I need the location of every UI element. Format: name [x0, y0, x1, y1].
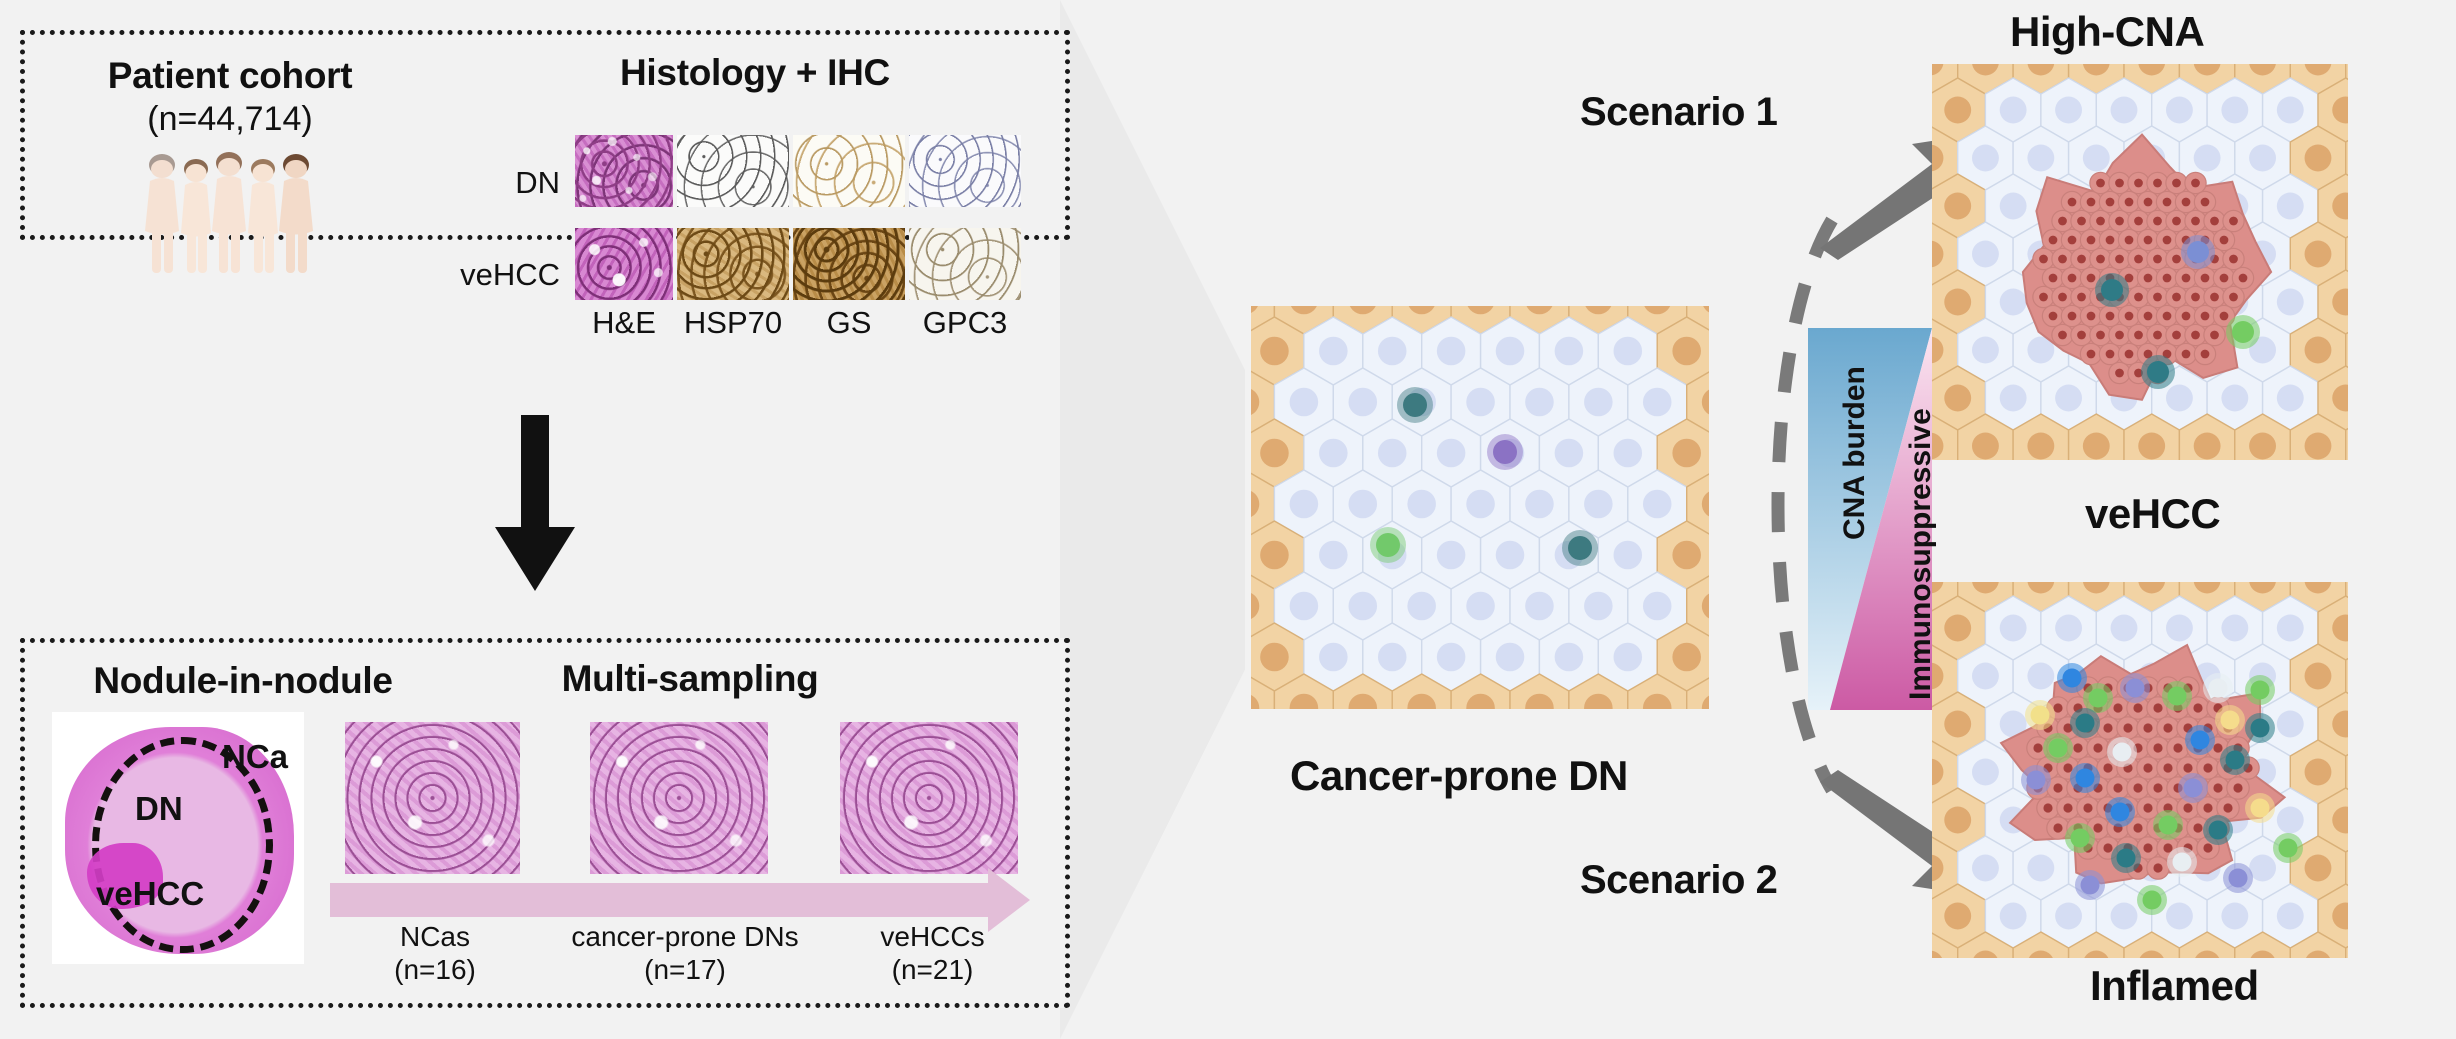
stain-label-hsp70: HSP70	[677, 305, 789, 341]
histology-tile-dn-gpc3	[909, 135, 1021, 207]
patient-cohort-title: Patient cohort	[70, 55, 390, 97]
scenario-2-label: Scenario 2	[1580, 858, 1777, 903]
histology-ihc-title: Histology + IHC	[580, 52, 930, 94]
histology-tile-vehcc-gpc3	[909, 228, 1021, 300]
histology-row-label-dn: DN	[440, 165, 560, 201]
histology-tile-dn-hsp70	[677, 135, 789, 207]
stain-label-he: H&E	[575, 305, 673, 341]
sample-tile-dns	[590, 722, 768, 874]
sample-label-vehccs: veHCCs (n=21)	[845, 920, 1020, 986]
patient-cohort-subtitle: (n=44,714)	[70, 100, 390, 139]
nodule-annotation-dn: DN	[135, 790, 183, 828]
sample-label-dns: cancer-prone DNs (n=17)	[560, 920, 810, 986]
sample-name-ncas: NCas	[355, 920, 515, 953]
sample-count-ncas: (n=16)	[355, 953, 515, 986]
figure-canvas: Patient cohort (n=44,714)	[0, 0, 2456, 1039]
nodule-annotation-vehcc: veHCC	[96, 875, 204, 913]
sample-tile-vehccs	[840, 722, 1018, 874]
down-arrow-icon	[490, 415, 580, 595]
high-cna-tissue-icon	[1930, 62, 2350, 462]
histology-tile-vehcc-hsp70	[677, 228, 789, 300]
inflamed-label: Inflamed	[2090, 962, 2259, 1010]
stain-label-gs: GS	[793, 305, 905, 341]
histology-tile-dn-gs	[793, 135, 905, 207]
scenario-1-label: Scenario 1	[1580, 90, 1777, 135]
nodule-in-nodule-title: Nodule-in-nodule	[48, 660, 438, 702]
vehcc-outcome-label: veHCC	[2085, 490, 2220, 538]
histology-row-label-vehcc: veHCC	[410, 257, 560, 293]
histology-tile-vehcc-he	[575, 228, 673, 300]
sample-tile-ncas	[345, 722, 520, 874]
cancer-prone-dn-label: Cancer-prone DN	[1290, 752, 1628, 800]
sample-name-vehccs: veHCCs	[845, 920, 1020, 953]
nodule-annotation-nca: NCa	[222, 738, 288, 776]
histology-tile-vehcc-gs	[793, 228, 905, 300]
sample-name-dns: cancer-prone DNs	[560, 920, 810, 953]
stain-label-gpc3: GPC3	[909, 305, 1021, 341]
histology-tile-dn-he	[575, 135, 673, 207]
sample-label-ncas: NCas (n=16)	[355, 920, 515, 986]
multi-sampling-title: Multi-sampling	[500, 658, 880, 700]
tissue-hexagon-icon-source	[1245, 300, 1715, 740]
branch-connector-lines	[1720, 190, 1870, 840]
patient-group-icon	[140, 145, 330, 275]
high-cna-label: High-CNA	[2010, 8, 2204, 56]
progression-arrow-icon	[330, 883, 990, 917]
sample-count-dns: (n=17)	[560, 953, 810, 986]
inflamed-tissue-icon	[1930, 580, 2350, 960]
sample-count-vehccs: (n=21)	[845, 953, 1020, 986]
